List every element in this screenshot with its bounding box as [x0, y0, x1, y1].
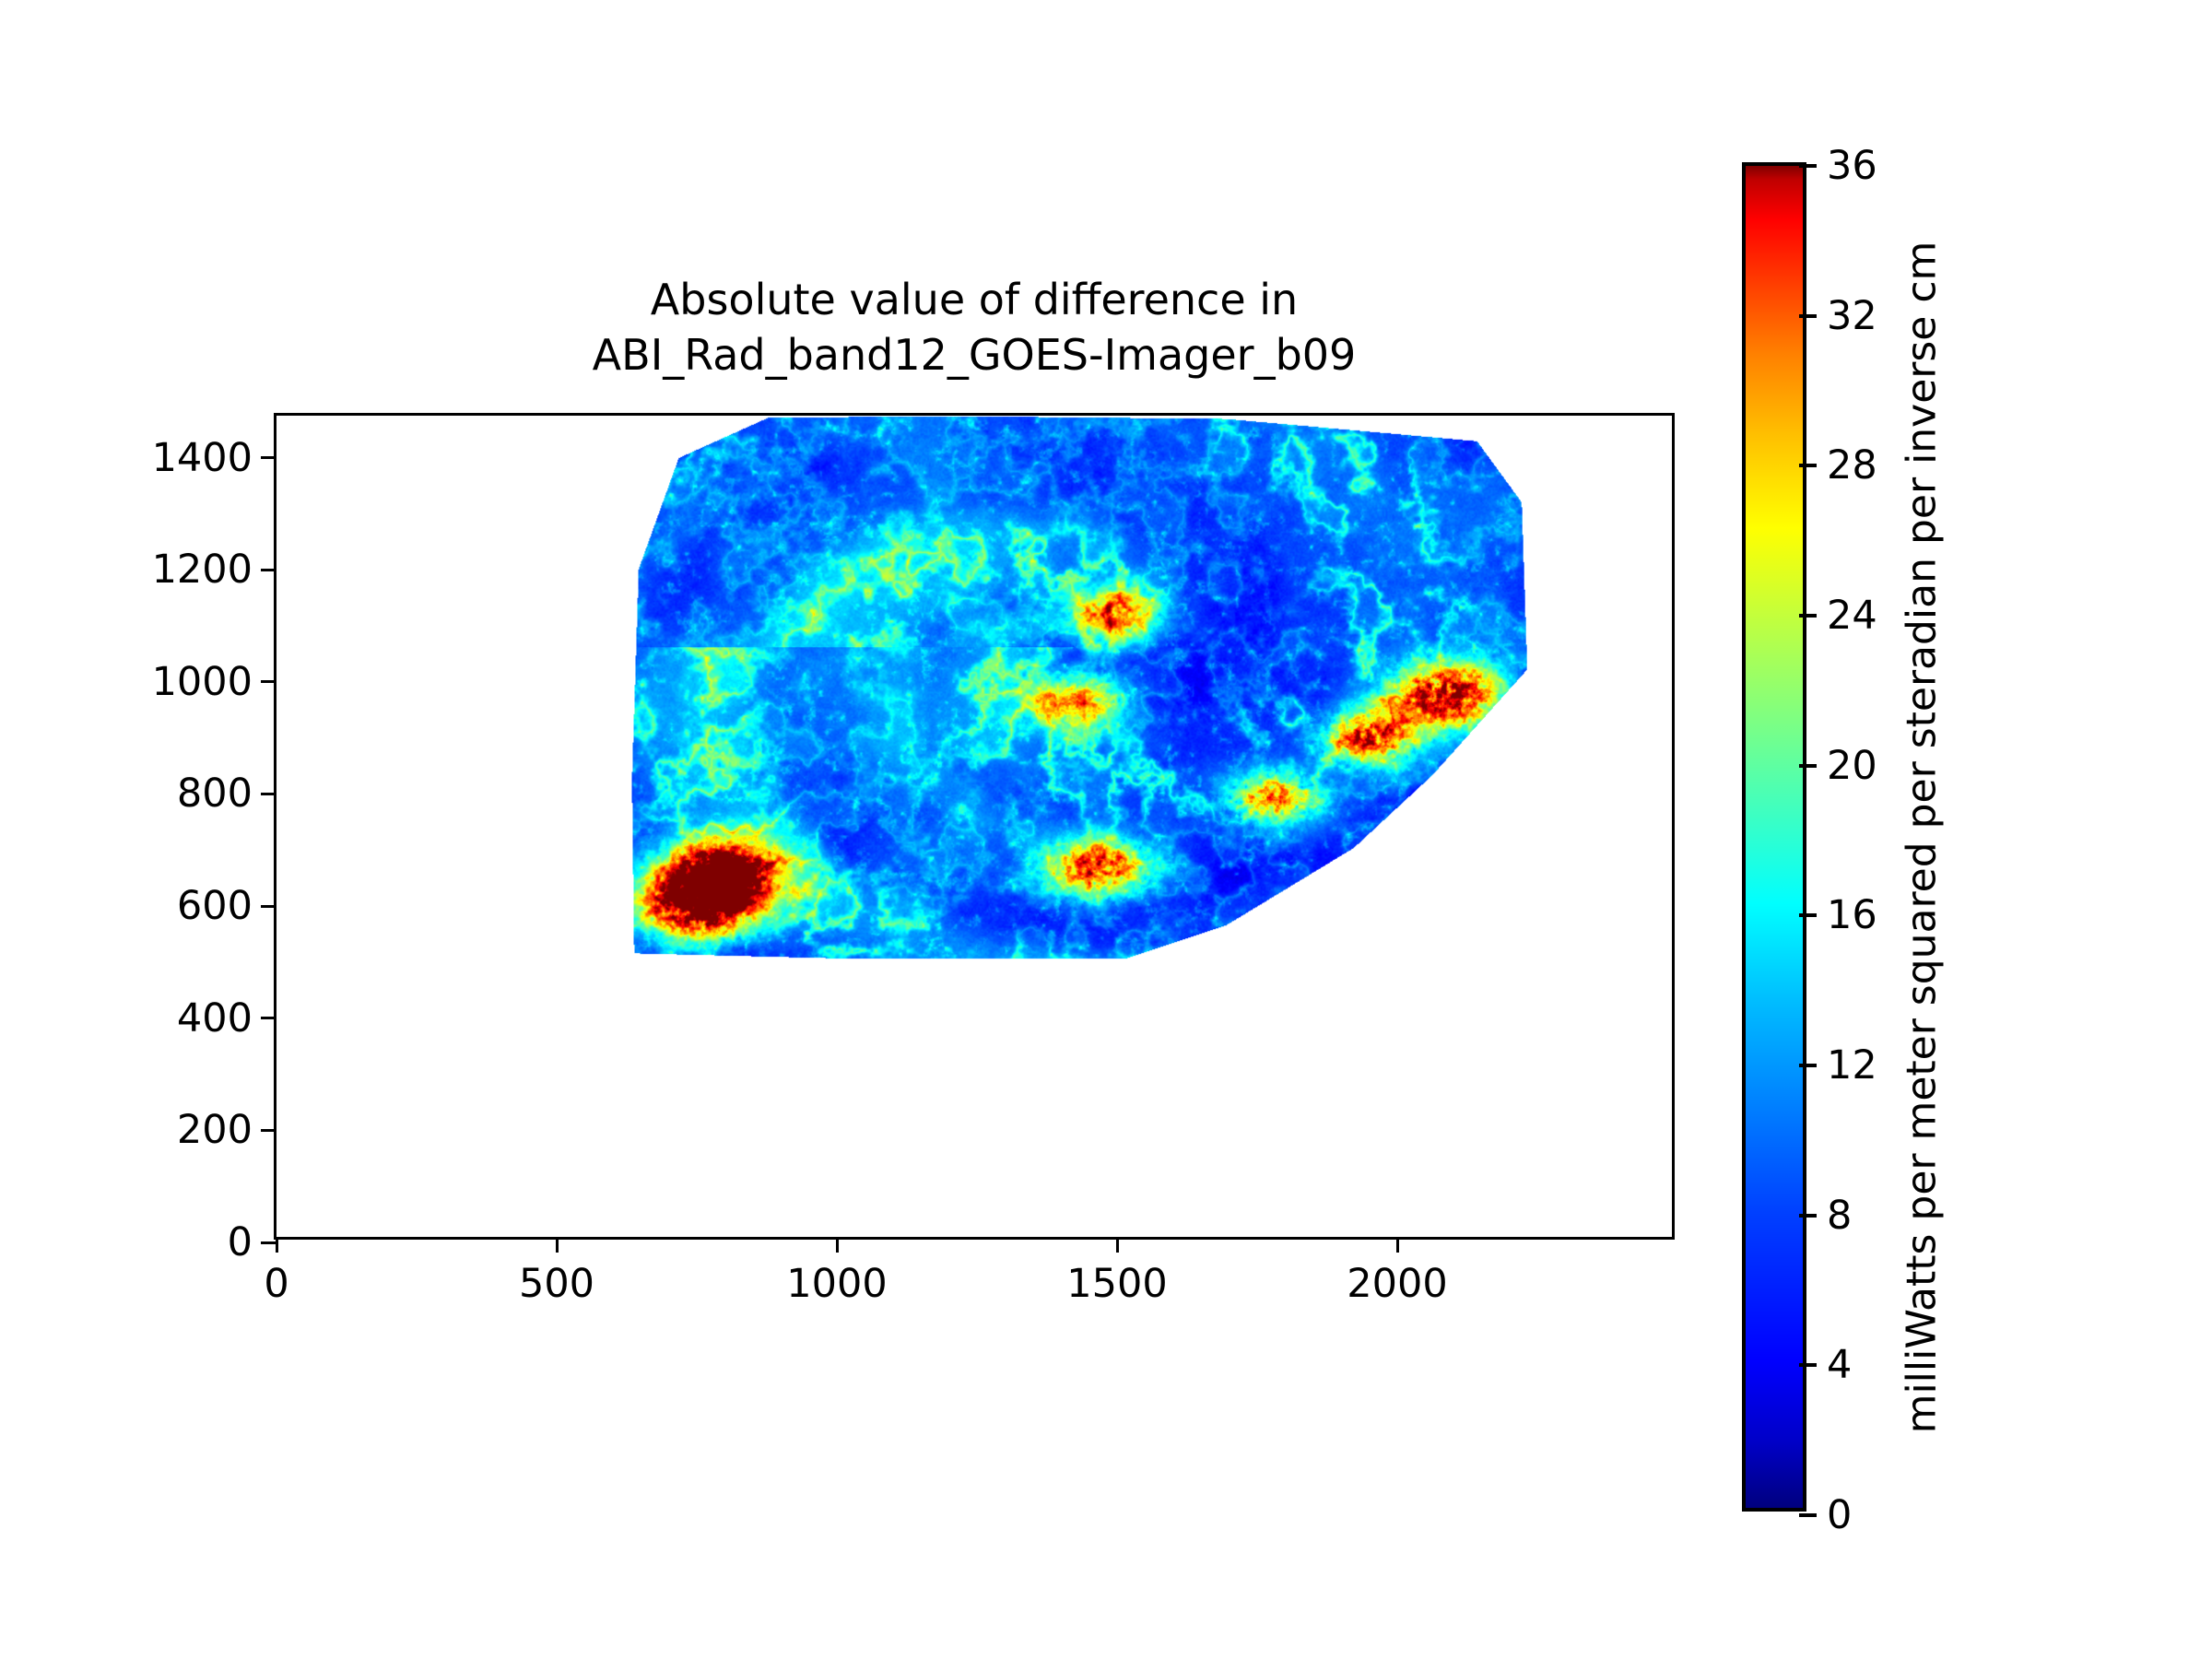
- colorbar-tick: [1799, 1363, 1817, 1367]
- y-axis-tick-label: 0: [228, 1219, 253, 1265]
- x-axis-tick-label: 0: [264, 1261, 288, 1307]
- y-axis-tick: [261, 1017, 276, 1019]
- colorbar-tick: [1799, 1064, 1817, 1067]
- x-axis-tick: [836, 1237, 839, 1253]
- colorbar-tick: [1799, 164, 1817, 168]
- colorbar-tick: [1799, 314, 1817, 318]
- colorbar-tick-label: 12: [1827, 1042, 1877, 1088]
- x-axis-tick-label: 500: [519, 1261, 594, 1307]
- colorbar-gradient: 04812162024283236: [1742, 162, 1806, 1512]
- colorbar-axis-label: milliWatts per meter squared per steradi…: [1899, 241, 1946, 1433]
- colorbar-tick-label: 32: [1827, 293, 1877, 339]
- y-axis-tick-label: 1400: [152, 435, 253, 481]
- y-axis-tick: [261, 569, 276, 571]
- colorbar-tick: [1799, 614, 1817, 618]
- y-axis-tick-label: 200: [177, 1107, 253, 1153]
- colorbar-tick-label: 4: [1827, 1342, 1852, 1388]
- x-axis-tick: [1116, 1237, 1119, 1253]
- chart-title: Absolute value of difference in ABI_Rad_…: [274, 273, 1675, 383]
- colorbar-tick-label: 28: [1827, 442, 1877, 488]
- colorbar-tick: [1799, 764, 1817, 768]
- y-axis-tick: [261, 793, 276, 795]
- figure-canvas: Absolute value of difference in ABI_Rad_…: [0, 0, 2212, 1659]
- colorbar-tick: [1799, 1513, 1817, 1517]
- y-axis-tick-label: 600: [177, 883, 253, 929]
- x-axis-tick-label: 2000: [1347, 1261, 1447, 1307]
- x-axis-tick: [556, 1237, 559, 1253]
- plot-axes: 0200400600800100012001400050010001500200…: [274, 413, 1675, 1240]
- colorbar-tick: [1799, 913, 1817, 917]
- colorbar-tick-label: 8: [1827, 1193, 1852, 1239]
- colorbar-tick-label: 16: [1827, 892, 1877, 938]
- colorbar-axis-label-container: milliWatts per meter squared per steradi…: [1894, 162, 1949, 1512]
- x-axis-tick: [276, 1237, 278, 1253]
- y-axis-tick-label: 1000: [152, 659, 253, 705]
- colorbar-tick-label: 36: [1827, 143, 1877, 189]
- y-axis-tick: [261, 1241, 276, 1244]
- y-axis-tick-label: 1200: [152, 547, 253, 593]
- colorbar-tick: [1799, 464, 1817, 467]
- colorbar-tick-label: 20: [1827, 743, 1877, 789]
- x-axis-tick: [1396, 1237, 1399, 1253]
- x-axis-tick-label: 1000: [786, 1261, 887, 1307]
- y-axis-tick: [261, 905, 276, 908]
- colorbar-tick-label: 24: [1827, 593, 1877, 639]
- y-axis-tick-label: 800: [177, 771, 253, 817]
- colorbar-tick: [1799, 1214, 1817, 1218]
- y-axis-tick: [261, 680, 276, 683]
- y-axis-tick-label: 400: [177, 995, 253, 1041]
- y-axis-tick: [261, 1129, 276, 1132]
- y-axis-tick: [261, 456, 276, 459]
- colorbar-tick-label: 0: [1827, 1492, 1852, 1538]
- colorbar-container: 04812162024283236: [1742, 162, 1806, 1512]
- satellite-difference-heatmap: [276, 416, 1672, 1237]
- x-axis-tick-label: 1500: [1066, 1261, 1167, 1307]
